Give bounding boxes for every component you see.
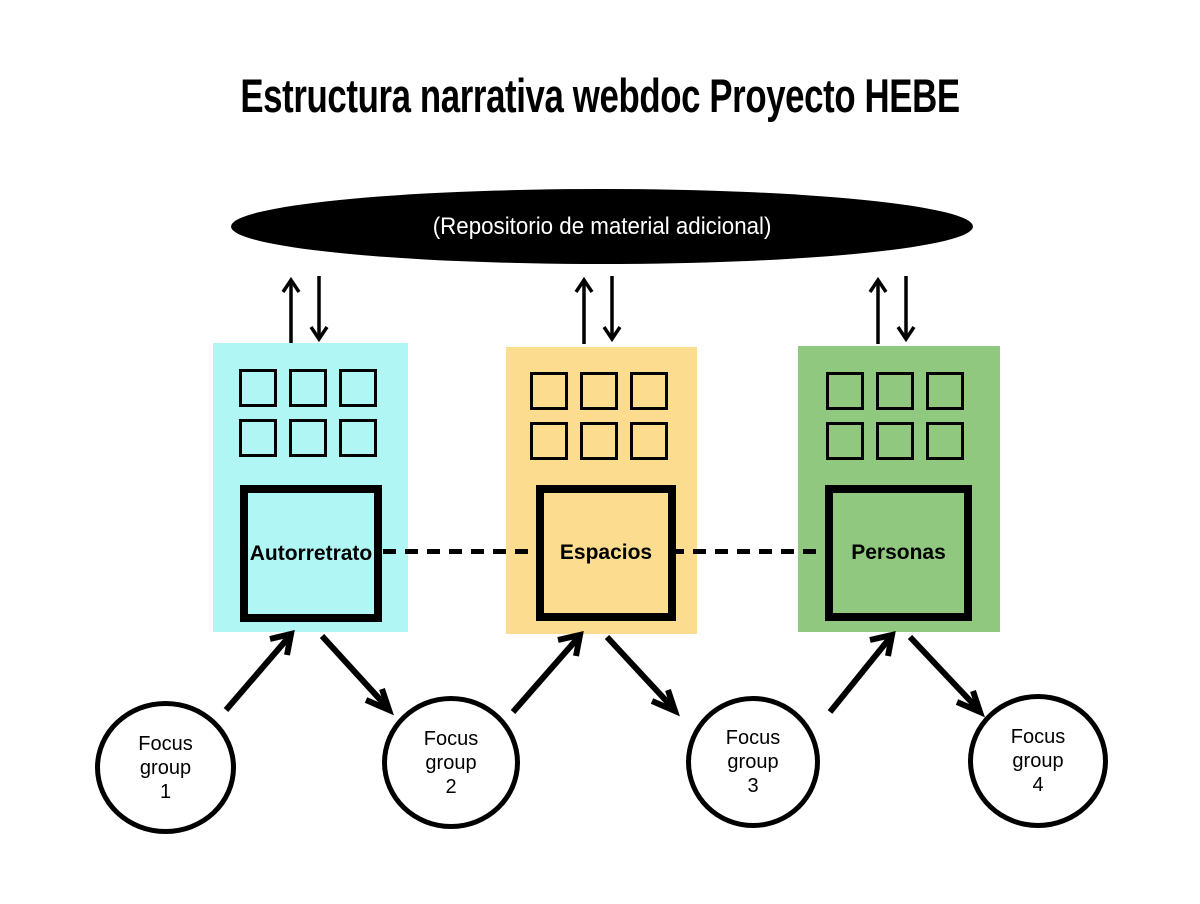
main-box-autorretrato[interactable]: Autorretrato <box>240 485 382 622</box>
arrow-pair-personas <box>862 276 922 344</box>
thumbnail-square[interactable] <box>876 372 914 410</box>
focus-group-circle-1[interactable]: Focus group 1 <box>95 701 236 834</box>
diagram-canvas: Estructura narrativa webdoc Proyecto HEB… <box>0 0 1200 904</box>
focus-group-label: Focus group 4 <box>1011 725 1065 797</box>
focus-group-circle-4[interactable]: Focus group 4 <box>968 694 1108 828</box>
up-down-arrows-icon <box>568 276 628 344</box>
thumbnail-square[interactable] <box>826 422 864 460</box>
thumbnail-square[interactable] <box>826 372 864 410</box>
focus-group-line-3: 1 <box>138 780 192 804</box>
up-down-arrows-icon <box>275 276 335 344</box>
focus-group-line-2: group <box>424 751 478 775</box>
dashed-connector-espacios-personas <box>671 549 826 554</box>
thumbnail-square[interactable] <box>630 422 668 460</box>
arrow-espacios-to-fg3 <box>607 637 675 711</box>
repository-label: (Repositorio de material adicional) <box>433 213 772 241</box>
up-down-arrows-icon <box>862 276 922 344</box>
thumbnail-square[interactable] <box>339 369 377 407</box>
arrow-autorretrato-to-fg2 <box>322 636 389 710</box>
focus-group-line-2: group <box>138 756 192 780</box>
thumbnail-square[interactable] <box>876 422 914 460</box>
thumbnail-grid-autorretrato <box>239 369 377 457</box>
column-espacios[interactable]: Espacios <box>506 347 697 634</box>
dashed-connector-autorretrato-espacios <box>383 549 533 554</box>
focus-group-line-1: Focus <box>1011 725 1065 749</box>
arrow-fg1-to-autorretrato <box>226 634 291 710</box>
main-box-label: Autorretrato <box>250 542 373 566</box>
thumbnail-grid-espacios <box>530 372 668 460</box>
main-box-label: Espacios <box>560 541 652 565</box>
thumbnail-square[interactable] <box>239 419 277 457</box>
focus-group-line-1: Focus <box>726 726 780 750</box>
arrow-personas-to-fg4 <box>910 637 980 712</box>
thumbnail-square[interactable] <box>530 372 568 410</box>
arrow-pair-espacios <box>568 276 628 344</box>
column-personas[interactable]: Personas <box>798 346 1000 632</box>
focus-group-circle-2[interactable]: Focus group 2 <box>382 696 520 829</box>
focus-group-line-2: group <box>726 750 780 774</box>
thumbnail-square[interactable] <box>289 369 327 407</box>
thumbnail-square[interactable] <box>530 422 568 460</box>
thumbnail-square[interactable] <box>289 419 327 457</box>
focus-group-line-3: 4 <box>1011 773 1065 797</box>
focus-group-line-1: Focus <box>424 727 478 751</box>
column-autorretrato[interactable]: Autorretrato <box>213 343 408 632</box>
arrow-fg2-to-espacios <box>513 635 580 712</box>
thumbnail-square[interactable] <box>926 422 964 460</box>
arrow-pair-autorretrato <box>275 276 335 344</box>
thumbnail-square[interactable] <box>339 419 377 457</box>
thumbnail-grid-personas <box>826 372 964 460</box>
focus-group-line-3: 3 <box>726 774 780 798</box>
main-box-espacios[interactable]: Espacios <box>536 485 676 621</box>
thumbnail-square[interactable] <box>926 372 964 410</box>
main-box-label: Personas <box>851 541 946 565</box>
focus-group-circle-3[interactable]: Focus group 3 <box>686 696 820 828</box>
thumbnail-square[interactable] <box>580 372 618 410</box>
repository-ellipse[interactable]: (Repositorio de material adicional) <box>231 189 973 264</box>
focus-group-line-2: group <box>1011 749 1065 773</box>
main-box-personas[interactable]: Personas <box>825 485 972 621</box>
thumbnail-square[interactable] <box>239 369 277 407</box>
focus-group-line-3: 2 <box>424 775 478 799</box>
focus-group-label: Focus group 2 <box>424 727 478 799</box>
page-title: Estructura narrativa webdoc Proyecto HEB… <box>156 68 1044 123</box>
focus-group-label: Focus group 3 <box>726 726 780 798</box>
focus-group-line-1: Focus <box>138 732 192 756</box>
arrow-fg3-to-personas <box>830 635 892 712</box>
focus-group-label: Focus group 1 <box>138 732 192 804</box>
thumbnail-square[interactable] <box>580 422 618 460</box>
thumbnail-square[interactable] <box>630 372 668 410</box>
